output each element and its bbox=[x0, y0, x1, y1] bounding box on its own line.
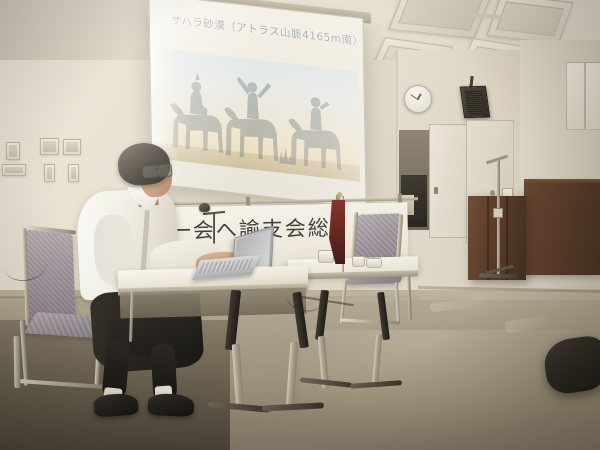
scene-photo: サハラ砂漠（アトラス山脈4165m南） bbox=[0, 0, 600, 450]
wall-switch[interactable] bbox=[6, 142, 20, 160]
wall-switch[interactable] bbox=[63, 139, 81, 155]
mic-stand-pole[interactable] bbox=[497, 160, 500, 278]
presenter-shoe-left bbox=[93, 392, 138, 417]
table-front-skirt bbox=[120, 288, 307, 319]
paper-cup[interactable] bbox=[352, 256, 365, 267]
table-item[interactable] bbox=[366, 258, 382, 268]
wall-outlet[interactable] bbox=[2, 164, 26, 176]
paper-cup[interactable] bbox=[318, 250, 334, 263]
microphone-icon[interactable] bbox=[199, 203, 210, 212]
eyeglasses-bridge bbox=[155, 168, 159, 169]
wall-switch[interactable] bbox=[40, 138, 59, 155]
presenter-shoe-right bbox=[148, 393, 195, 417]
chair-left-leg-front bbox=[14, 336, 21, 388]
wall-clock bbox=[404, 85, 432, 113]
window bbox=[566, 62, 600, 130]
wall-switch[interactable] bbox=[44, 164, 55, 182]
door-panel[interactable] bbox=[429, 124, 469, 238]
ceiling-speaker-icon bbox=[460, 86, 491, 119]
projection-screen: サハラ砂漠（アトラス山脈4165m南） bbox=[148, 0, 366, 208]
eyeglasses-icon bbox=[156, 163, 172, 177]
wood-cabinet bbox=[524, 183, 600, 275]
wall-switch[interactable] bbox=[68, 164, 79, 182]
mic-stand-clamp[interactable] bbox=[493, 208, 503, 218]
flag-finial bbox=[337, 192, 342, 198]
